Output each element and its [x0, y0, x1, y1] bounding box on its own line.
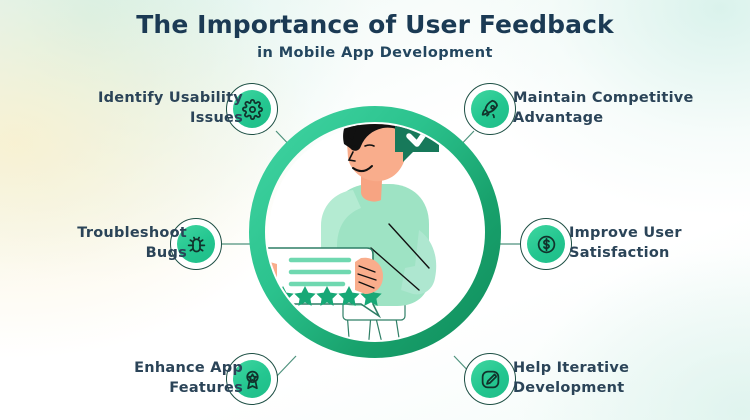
node-icon-maintain-competitive-advantage[interactable] — [464, 83, 516, 135]
node-icon-help-iterative-development[interactable] — [464, 353, 516, 405]
node-label-improve-user-satisfaction: Improve User Satisfaction — [569, 223, 682, 263]
illustration-svg — [243, 100, 507, 364]
edit-icon — [471, 360, 509, 398]
node-label-enhance-app-features: Enhance App Features — [134, 358, 243, 398]
coin-icon — [527, 225, 565, 263]
node-label-troubleshoot-bugs: Troubleshoot Bugs — [77, 223, 187, 263]
node-label-identify-usability-issues: Identify Usability Issues — [98, 88, 243, 128]
page-title: The Importance of User Feedback — [0, 10, 750, 40]
node-icon-improve-user-satisfaction[interactable] — [520, 218, 572, 270]
infographic-canvas: The Importance of User Feedback in Mobil… — [0, 0, 750, 420]
rocket-icon — [471, 90, 509, 128]
illustration-person-feedback — [243, 100, 507, 364]
node-label-help-iterative-development: Help Iterative Development — [513, 358, 629, 398]
node-label-maintain-competitive-advantage: Maintain Competitive Advantage — [513, 88, 694, 128]
title-block: The Importance of User Feedback in Mobil… — [0, 10, 750, 61]
page-subtitle: in Mobile App Development — [0, 45, 750, 61]
